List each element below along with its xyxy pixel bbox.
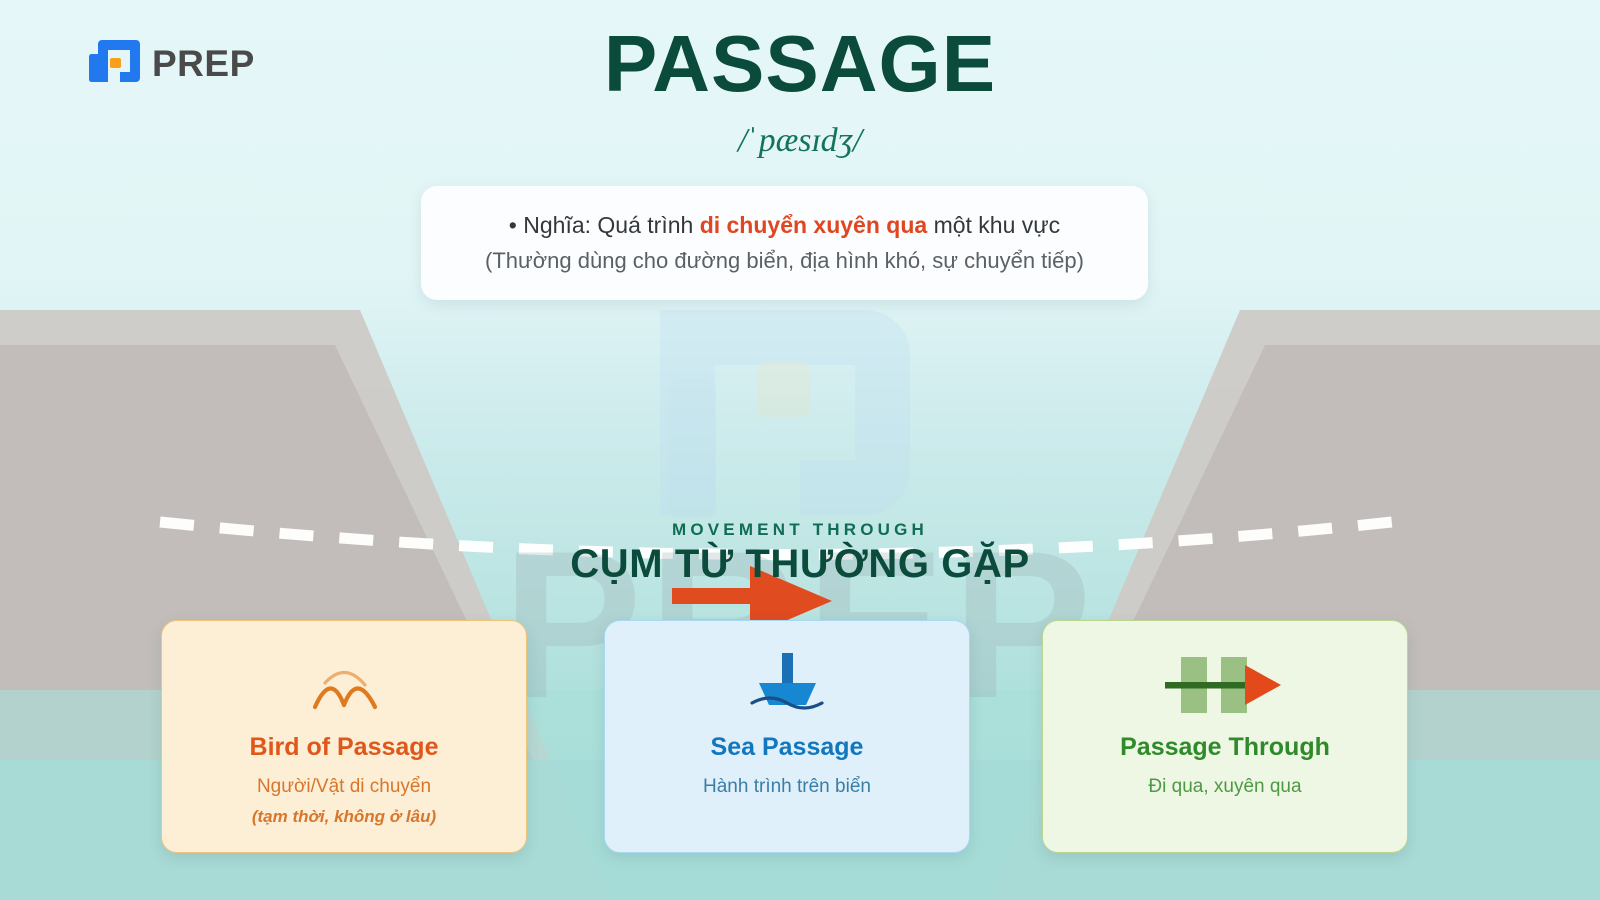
card-title: Passage Through: [1120, 733, 1330, 762]
definition-secondary-line: (Thường dùng cho đường biển, địa hình kh…: [485, 248, 1084, 274]
phonetic-transcription: /ˈpæsɪdʒ/: [0, 122, 1600, 160]
section-heading: CỤM TỪ THƯỜNG GẶP: [0, 542, 1600, 587]
card-subtitle: Hành trình trên biển: [703, 776, 871, 798]
boat-on-waves-icon: [732, 645, 842, 717]
definition-primary-line: • Nghĩa: Quá trình di chuyển xuyên qua m…: [509, 212, 1060, 239]
definition-suffix: một khu vực: [927, 212, 1060, 238]
definition-highlight: di chuyển xuyên qua: [700, 212, 928, 238]
card-title: Bird of Passage: [250, 733, 439, 762]
section-heading-block: MOVEMENT THROUGH CỤM TỪ THƯỜNG GẶP: [0, 520, 1600, 587]
phrase-card-sea-passage[interactable]: Sea Passage Hành trình trên biển: [604, 620, 970, 853]
arrow-through-pillars-icon: [1163, 645, 1288, 717]
card-subtitle: Đi qua, xuyên qua: [1148, 776, 1301, 798]
prep-watermark-logo-icon: [650, 300, 920, 530]
card-title: Sea Passage: [711, 733, 864, 762]
definition-bullet: •: [509, 212, 517, 238]
phrase-card-passage-through[interactable]: Passage Through Đi qua, xuyên qua: [1042, 620, 1408, 853]
card-note: (tạm thời, không ở lâu): [252, 807, 436, 827]
phrase-card-bird-of-passage[interactable]: Bird of Passage Người/Vật di chuyển (tạm…: [161, 620, 527, 853]
slide-canvas: PREP PREP PASSAGE /ˈpæsɪdʒ/ • Nghĩa: Quá…: [0, 0, 1600, 900]
definition-card: • Nghĩa: Quá trình di chuyển xuyên qua m…: [421, 186, 1148, 300]
definition-prefix: Nghĩa: Quá trình: [523, 212, 699, 238]
section-eyebrow: MOVEMENT THROUGH: [0, 520, 1600, 540]
bird-arcs-icon: [289, 645, 399, 717]
page-title: PASSAGE: [0, 22, 1600, 106]
card-subtitle: Người/Vật di chuyển: [257, 776, 431, 798]
